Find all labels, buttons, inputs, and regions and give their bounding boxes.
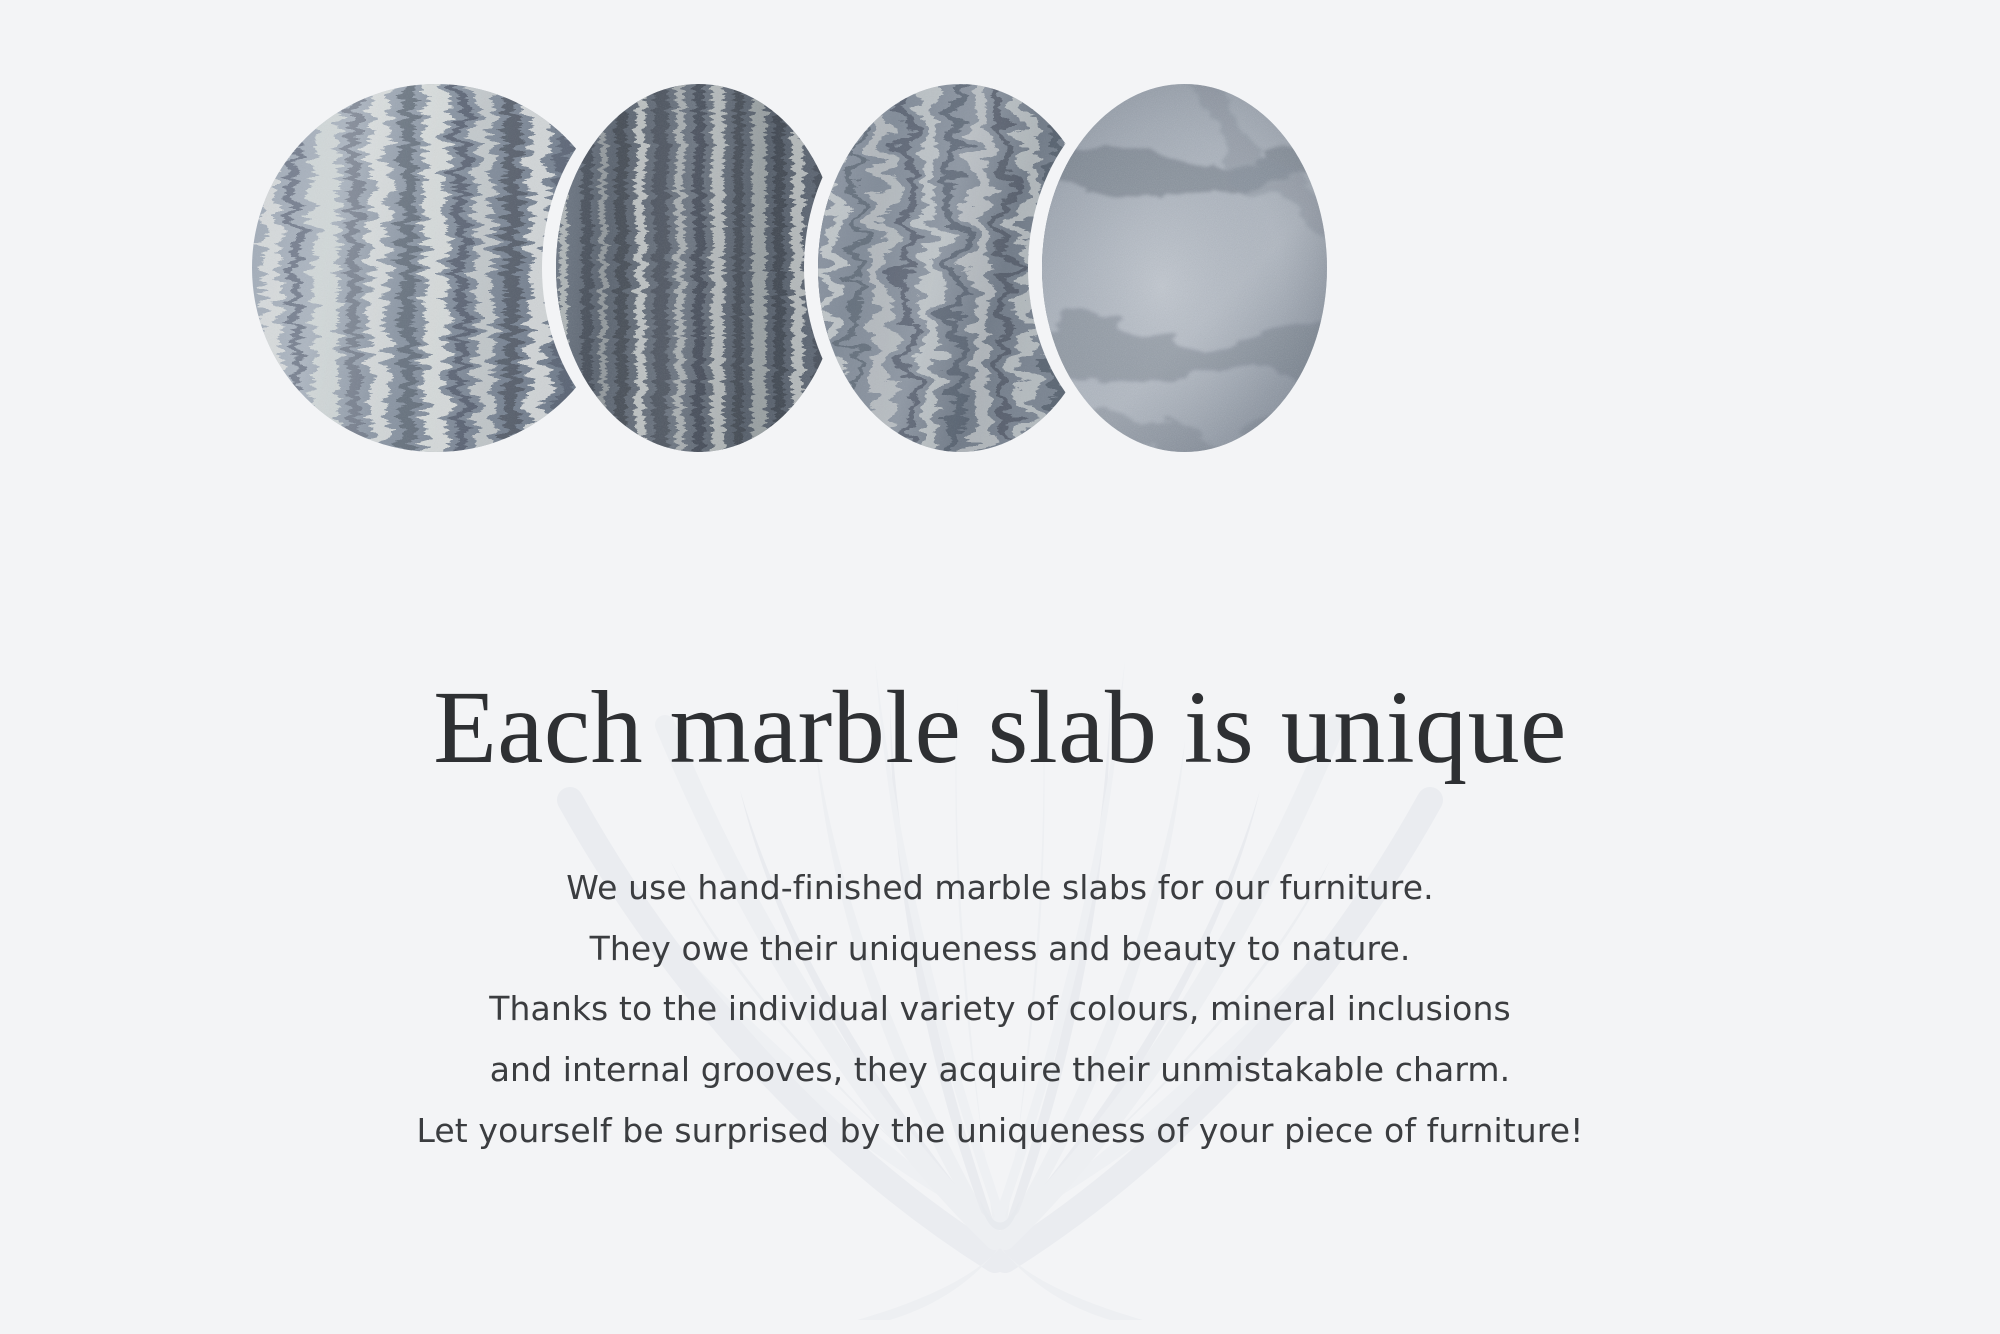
marble-feature-section: Each marble slab is unique We use hand-f… [0, 0, 2000, 1334]
body-line-5: Let yourself be surprised by the uniquen… [0, 1101, 2000, 1162]
body-line-4: and internal grooves, they acquire their… [0, 1040, 2000, 1101]
circle-separator-ring-1 [545, 84, 841, 452]
marble-sample-1 [252, 84, 620, 452]
page-title: Each marble slab is unique [0, 672, 2000, 784]
body-line-1: We use hand-finished marble slabs for ou… [0, 858, 2000, 919]
marble-sample-2 [556, 84, 841, 452]
marble-sample-3 [818, 84, 1103, 452]
body-paragraph: We use hand-finished marble slabs for ou… [0, 858, 2000, 1162]
marble-slab-samples [0, 0, 2000, 600]
body-line-2: They owe their uniqueness and beauty to … [0, 919, 2000, 980]
body-line-3: Thanks to the individual variety of colo… [0, 979, 2000, 1040]
marble-sample-4 [1042, 84, 1327, 452]
